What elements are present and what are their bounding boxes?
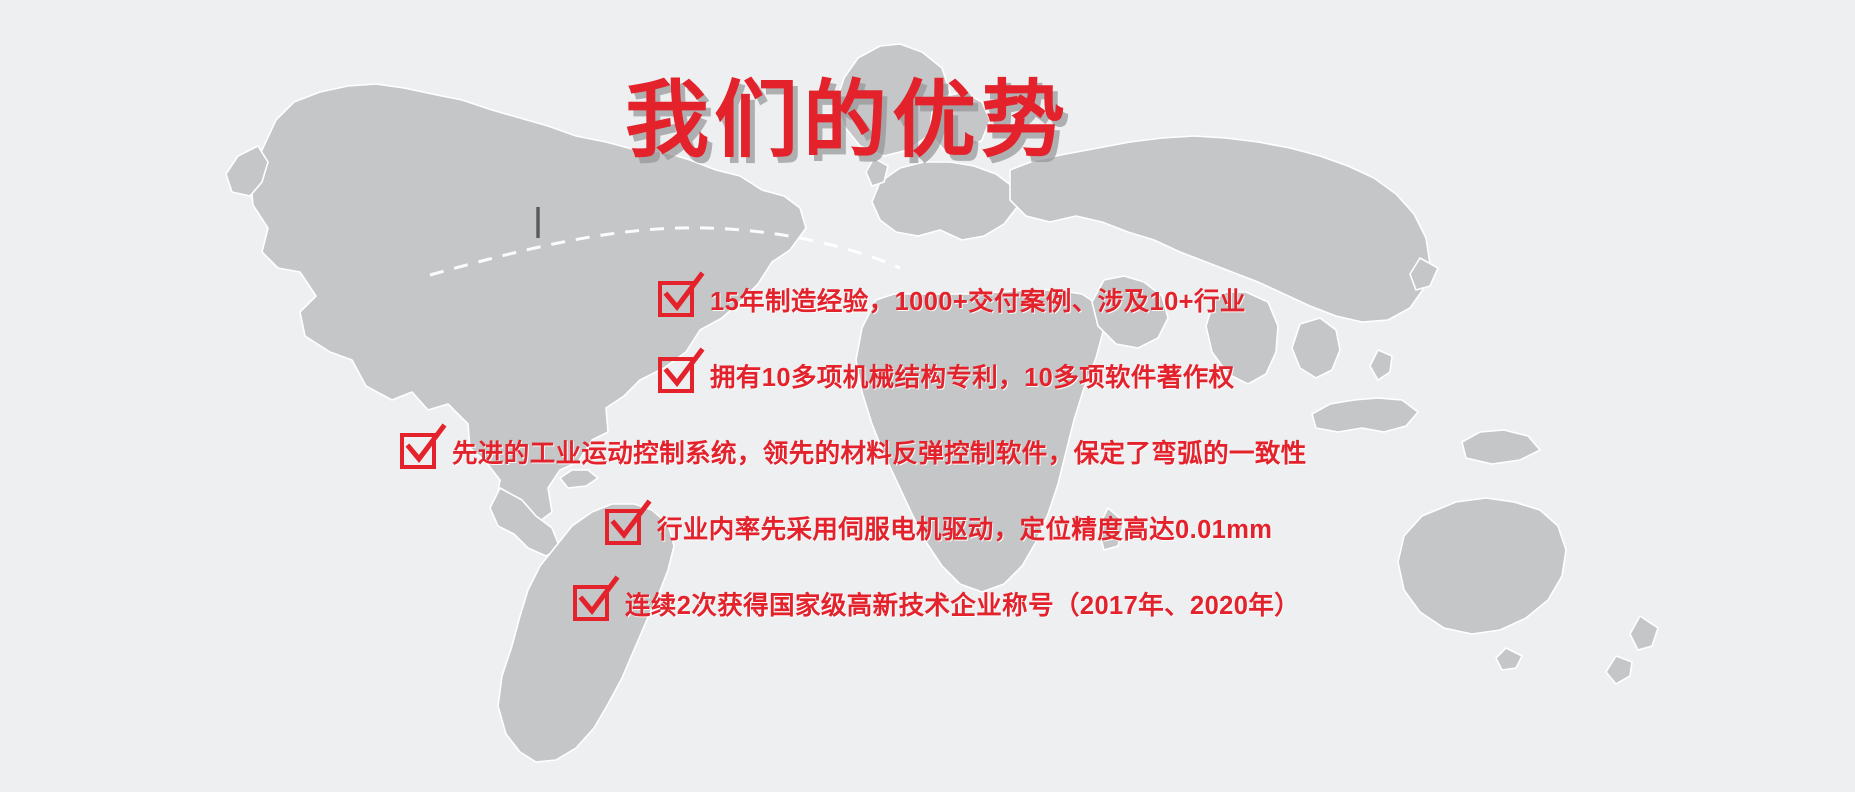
checkmark-glyph xyxy=(575,577,621,623)
list-item-label: 15年制造经验，1000+交付案例、涉及10+行业 xyxy=(710,281,1246,318)
check-square-icon xyxy=(573,585,609,621)
region-new-zealand-south xyxy=(1606,656,1632,684)
list-item-label: 先进的工业运动控制系统，领先的材料反弹控制软件，保定了弯弧的一致性 xyxy=(452,433,1307,470)
list-item: 先进的工业运动控制系统，领先的材料反弹控制软件，保定了弯弧的一致性 xyxy=(0,420,1855,482)
region-tasmania xyxy=(1496,648,1522,670)
check-square-icon xyxy=(400,433,436,469)
list-item-label: 行业内率先采用伺服电机驱动，定位精度高达0.01mm xyxy=(657,509,1272,546)
advantages-banner: 我们的优势 15年制造经验，1000+交付案例、涉及10+行业 拥有10多项机械… xyxy=(0,0,1855,792)
checkmark-glyph xyxy=(660,273,706,319)
region-british-isles xyxy=(866,158,888,186)
check-square-icon xyxy=(658,357,694,393)
check-square-icon xyxy=(605,509,641,545)
continent-europe xyxy=(872,162,1018,240)
list-item: 连续2次获得国家级高新技术企业称号（2017年、2020年） xyxy=(0,572,1855,634)
advantages-list: 15年制造经验，1000+交付案例、涉及10+行业 拥有10多项机械结构专利，1… xyxy=(0,268,1855,648)
list-item: 拥有10多项机械结构专利，10多项软件著作权 xyxy=(0,344,1855,406)
list-item: 15年制造经验，1000+交付案例、涉及10+行业 xyxy=(0,268,1855,330)
list-item: 行业内率先采用伺服电机驱动，定位精度高达0.01mm xyxy=(0,496,1855,558)
list-item-label: 连续2次获得国家级高新技术企业称号（2017年、2020年） xyxy=(625,585,1300,622)
checkmark-glyph xyxy=(660,349,706,395)
checkmark-glyph xyxy=(607,501,653,547)
continent-greenland xyxy=(836,44,950,156)
checkmark-glyph xyxy=(402,425,448,471)
list-item-label: 拥有10多项机械结构专利，10多项软件著作权 xyxy=(710,357,1235,394)
check-square-icon xyxy=(658,281,694,317)
